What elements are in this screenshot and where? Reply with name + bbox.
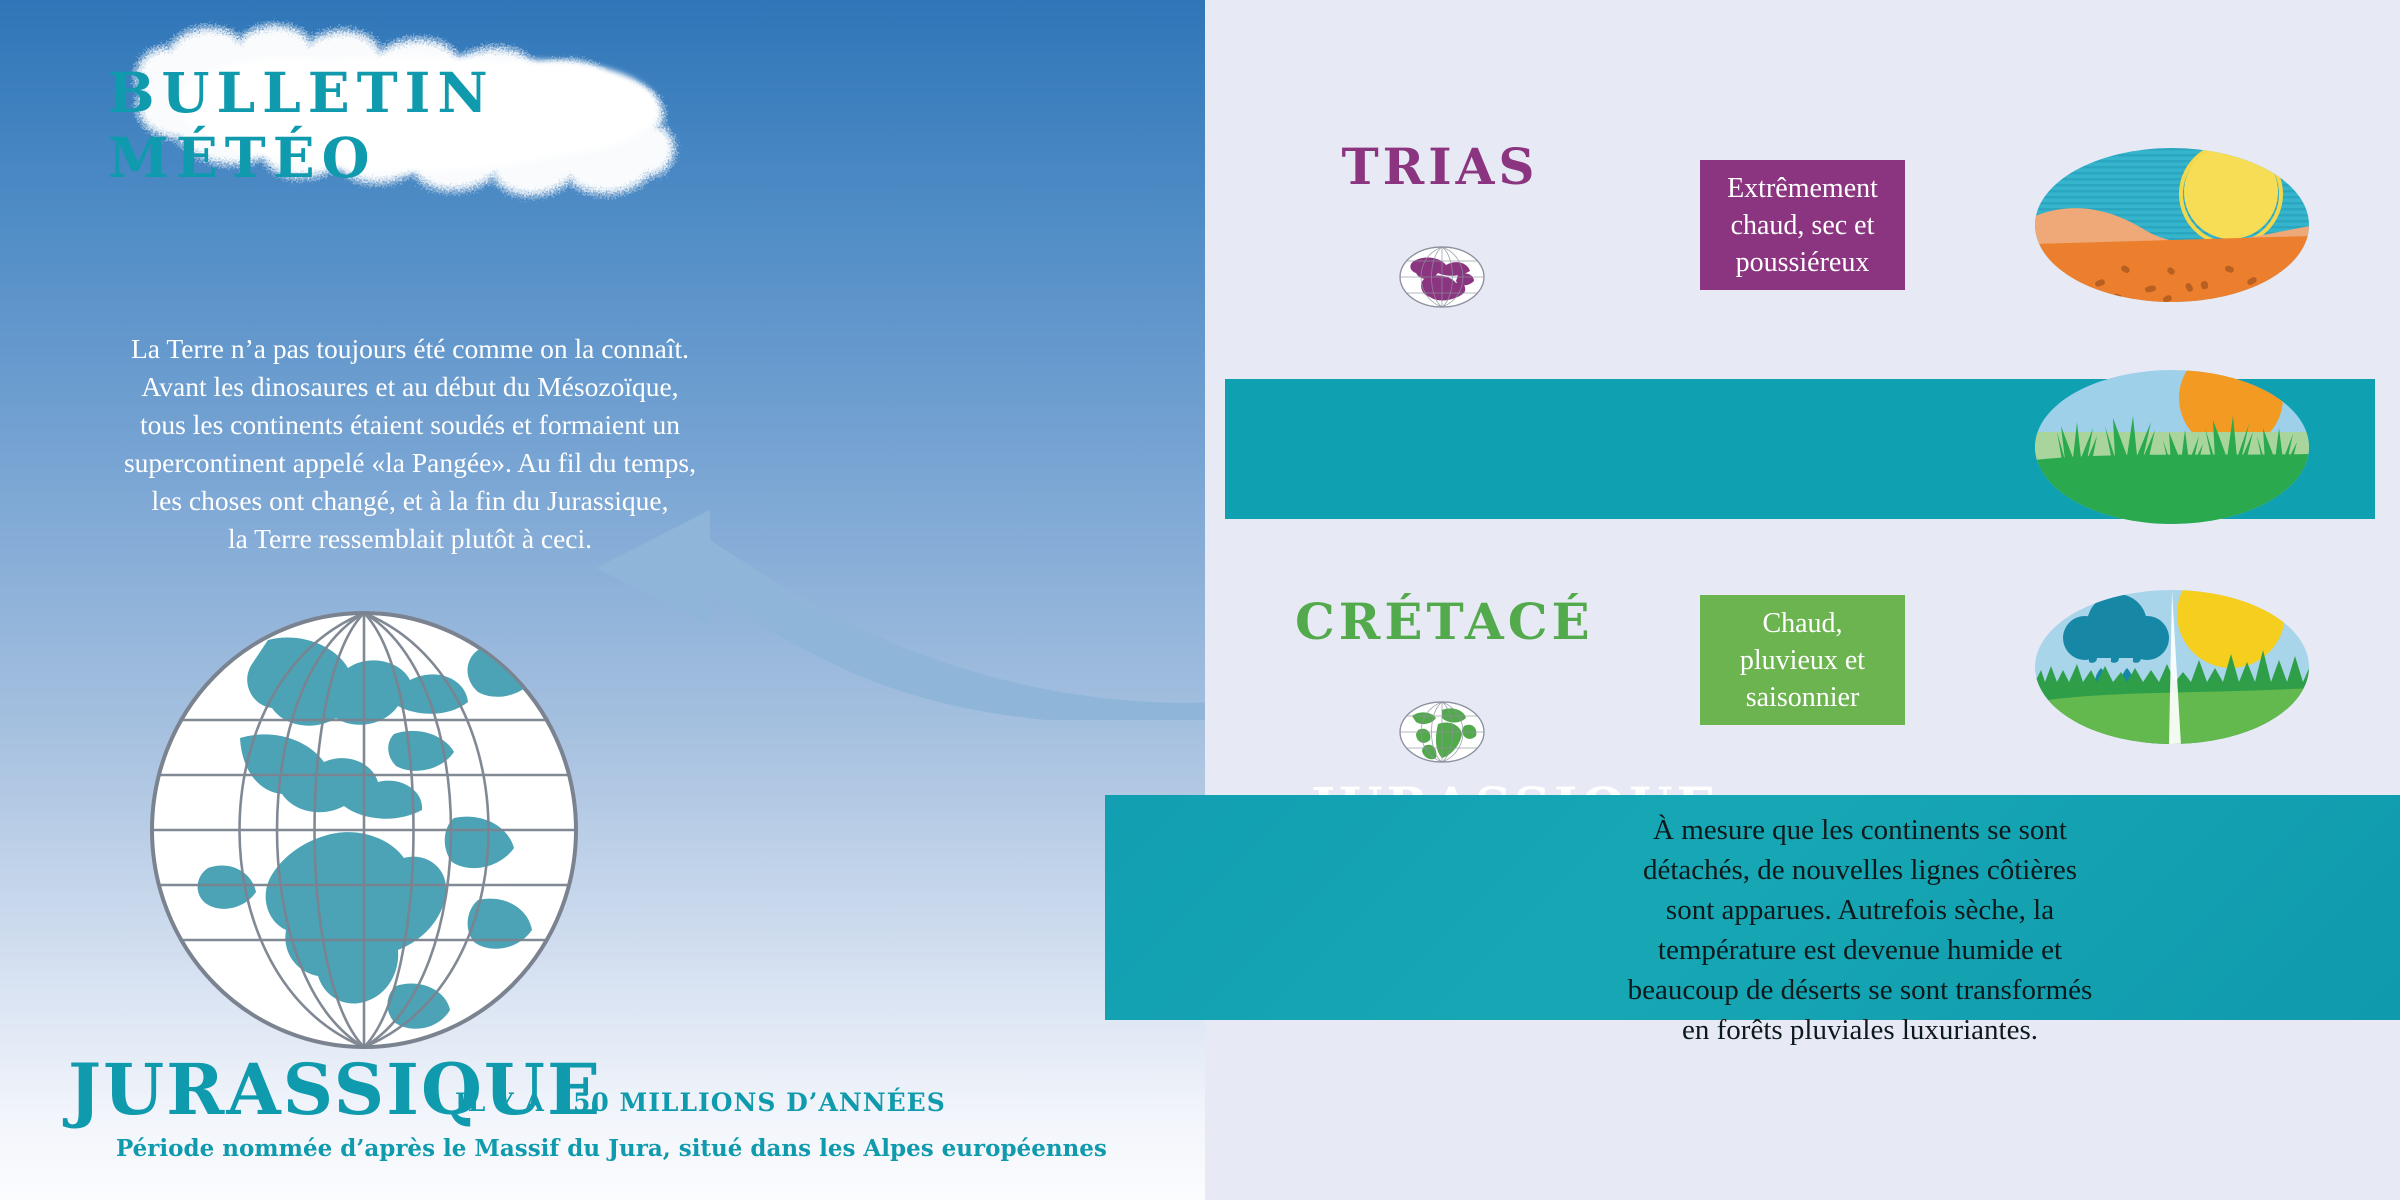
intro-line: supercontinent appelé «la Pangée». Au fi… <box>100 444 720 482</box>
period-description-cretace: Chaud, pluvieux et saisonnier <box>1700 595 1905 725</box>
intro-line: tous les continents étaient soudés et fo… <box>100 406 720 444</box>
intro-line: Avant les dinosaures et au début du Méso… <box>100 368 720 406</box>
curved-arrow-icon <box>560 500 1205 725</box>
tropical-sun-icon <box>2035 370 2310 525</box>
cloud-banner: BULLETIN MÉTÉO <box>108 18 748 208</box>
weather-illustration-trias <box>2035 148 2310 303</box>
globe-icon-cretace <box>1398 700 1486 764</box>
summary-line: température est devenue humide et <box>1470 930 2250 970</box>
page-title: BULLETIN MÉTÉO <box>108 18 748 208</box>
period-name: TRIAS <box>1295 140 1585 194</box>
weather-illustration-cretace <box>2035 590 2310 745</box>
period-label-trias: TRIAS <box>1295 140 1585 194</box>
summary-line: beaucoup de déserts se sont transformés <box>1470 970 2250 1010</box>
jurassic-period-subtitle: Période nommée d’après le Massif du Jura… <box>116 1135 716 1162</box>
intro-line: La Terre n’a pas toujours été comme on l… <box>100 330 720 368</box>
globe-icon <box>1398 700 1486 764</box>
arrow-shape-icon <box>560 500 1205 720</box>
period-label-cretace: CRÉTACÉ <box>1295 595 1585 649</box>
globe-icon-trias <box>1398 245 1486 309</box>
summary-line: en forêts pluviales luxuriantes. <box>1470 1010 2250 1050</box>
summary-line: sont apparues. Autrefois sèche, la <box>1470 890 2250 930</box>
jurassic-period-age: IL Y A 150 MILLIONS D’ANNÉES <box>455 1088 946 1117</box>
globe-icon <box>1398 245 1486 309</box>
summary-line: À mesure que les continents se sont <box>1470 810 2250 850</box>
period-name: CRÉTACÉ <box>1295 595 1585 649</box>
jurassic-globe-illustration <box>148 610 580 1050</box>
desert-sun-icon <box>2035 148 2310 303</box>
globe-icon <box>148 610 580 1050</box>
left-panel: BULLETIN MÉTÉO La Terre n’a pas toujours… <box>0 0 1205 1200</box>
summary-line: détachés, de nouvelles lignes côtières <box>1470 850 2250 890</box>
rain-sun-icon <box>2035 590 2310 745</box>
period-description-trias: Extrêmement chaud, sec et poussiéreux <box>1700 160 1905 290</box>
weather-illustration-jurassique <box>2035 370 2310 525</box>
summary-paragraph: À mesure que les continents se sont déta… <box>1470 810 2250 1050</box>
infographic-canvas: BULLETIN MÉTÉO La Terre n’a pas toujours… <box>0 0 2400 1200</box>
